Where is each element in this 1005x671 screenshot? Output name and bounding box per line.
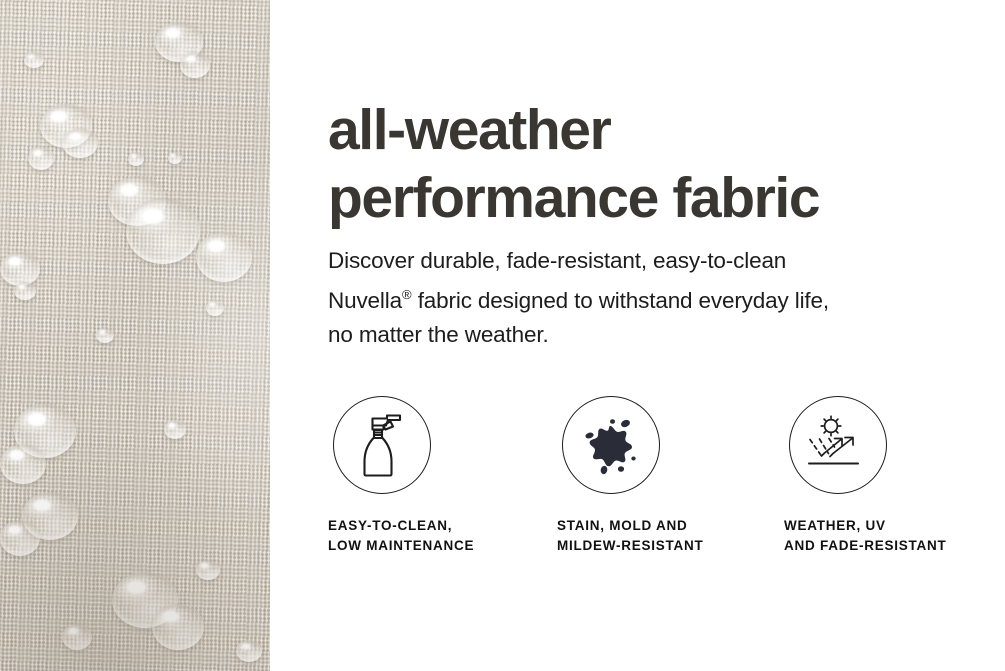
- icon-badge: [789, 396, 887, 494]
- sun-uv-reflect-icon: [806, 415, 870, 475]
- registered-trademark-symbol: ®: [402, 287, 412, 302]
- icon-badge: [333, 396, 431, 494]
- subcopy-paragraph: Discover durable, fade-resistant, easy-t…: [328, 244, 829, 352]
- content-column: all-weather performance fabric Discover …: [328, 0, 988, 671]
- photo-shading-overlay: [0, 0, 270, 671]
- fabric-photo: [0, 0, 270, 671]
- feature-item-easy-to-clean: EASY-TO-CLEAN, LOW MAINTENANCE: [328, 396, 543, 556]
- feature-item-uv-fade-resistant: WEATHER, UV AND FADE-RESISTANT: [784, 396, 999, 556]
- all-weather-fabric-banner: all-weather performance fabric Discover …: [0, 0, 1005, 671]
- feature-item-stain-resistant: STAIN, MOLD AND MILDEW-RESISTANT: [557, 396, 772, 556]
- page-title: all-weather performance fabric: [328, 96, 819, 232]
- subcopy-line-3: no matter the weather.: [328, 322, 549, 347]
- spray-bottle-icon: [356, 412, 408, 478]
- brand-name: Nuvella: [328, 288, 402, 313]
- feature-caption: WEATHER, UV AND FADE-RESISTANT: [784, 516, 999, 556]
- feature-caption: EASY-TO-CLEAN, LOW MAINTENANCE: [328, 516, 543, 556]
- subcopy-line-2: fabric designed to withstand everyday li…: [412, 288, 829, 313]
- icon-badge: [562, 396, 660, 494]
- stain-splatter-icon: [580, 414, 642, 476]
- feature-caption: STAIN, MOLD AND MILDEW-RESISTANT: [557, 516, 772, 556]
- subcopy-line-1: Discover durable, fade-resistant, easy-t…: [328, 248, 786, 273]
